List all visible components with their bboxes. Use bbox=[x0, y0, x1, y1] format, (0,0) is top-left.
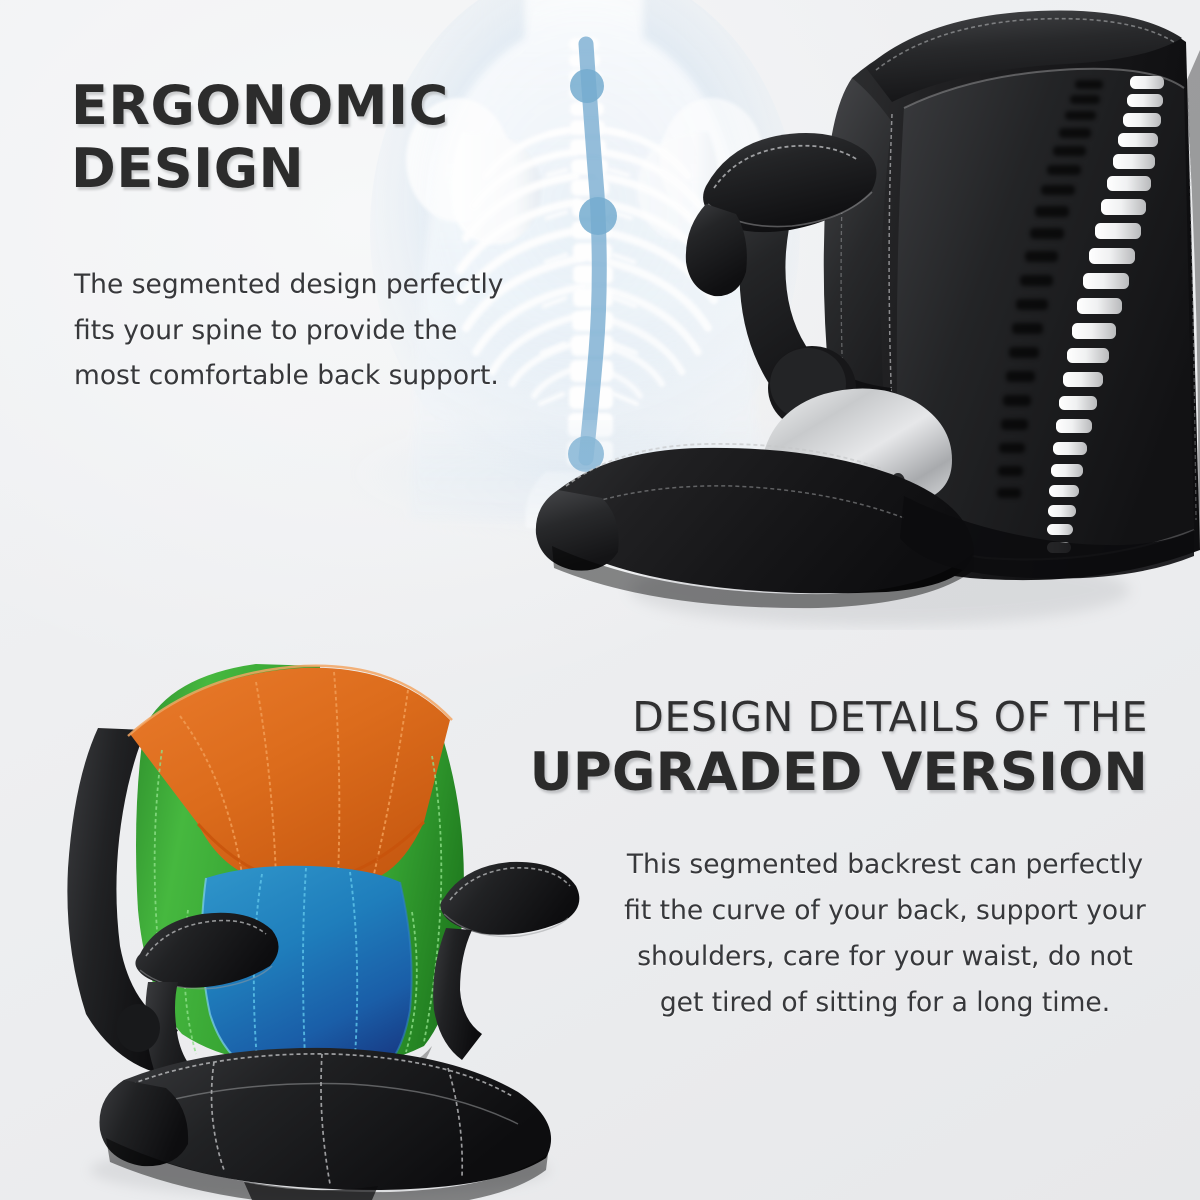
product-feature-poster: ERGONOMIC DESIGN The segmented design pe… bbox=[0, 0, 1200, 1200]
headline-line-1: ERGONOMIC bbox=[71, 74, 449, 137]
page-title-ergonomic: ERGONOMIC DESIGN bbox=[71, 74, 541, 200]
paragraph-upgraded: This segmented backrest can perfectly fi… bbox=[620, 842, 1150, 1026]
headline-upgraded-line-1: DESIGN DETAILS OF THE bbox=[448, 695, 1148, 739]
paragraph-ergonomic: The segmented design perfectly fits your… bbox=[74, 262, 504, 399]
headline-upgraded-line-2: UPGRADED VERSION bbox=[448, 743, 1148, 802]
black-leather-office-chair-back bbox=[500, 0, 1200, 630]
page-title-upgraded: DESIGN DETAILS OF THE UPGRADED VERSION bbox=[448, 695, 1148, 803]
headline-line-2: DESIGN bbox=[71, 137, 541, 200]
